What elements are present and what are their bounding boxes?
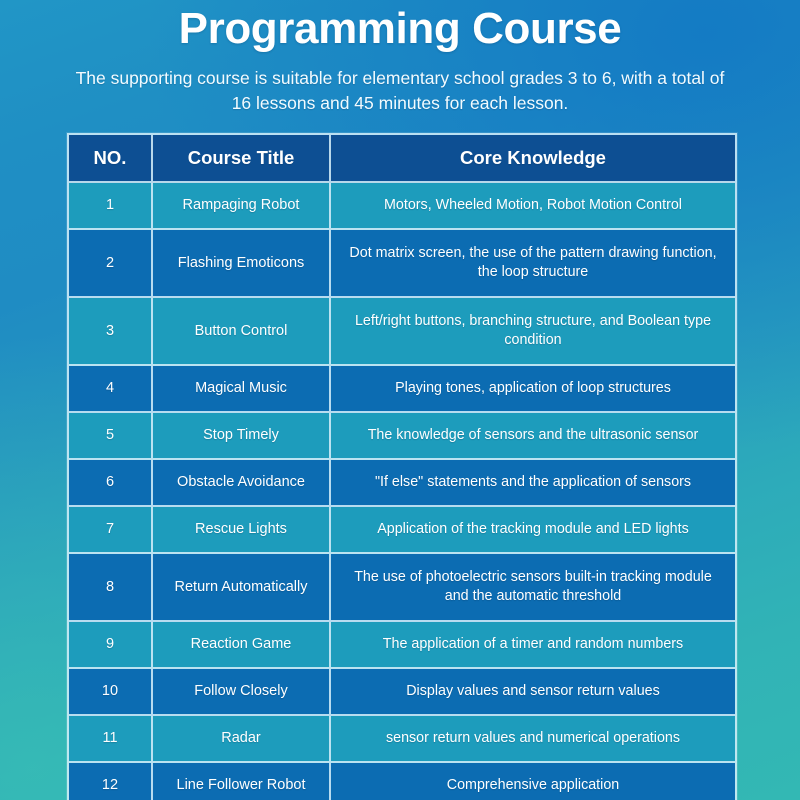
- cell-course-title: Return Automatically: [153, 554, 331, 622]
- cell-course-title: Rescue Lights: [153, 507, 331, 554]
- cell-lesson-number: 2: [69, 230, 153, 298]
- table-row: 10Follow CloselyDisplay values and senso…: [69, 669, 735, 716]
- cell-core-knowledge: "If else" statements and the application…: [331, 460, 735, 507]
- cell-lesson-number: 9: [69, 622, 153, 669]
- page-subtitle: The supporting course is suitable for el…: [70, 66, 730, 116]
- poster-header: Programming Course The supporting course…: [0, 0, 800, 116]
- course-table: NO. Course Title Core Knowledge 1Rampagi…: [67, 133, 737, 800]
- course-table-body: 1Rampaging RobotMotors, Wheeled Motion, …: [69, 183, 735, 800]
- cell-lesson-number: 10: [69, 669, 153, 716]
- cell-core-knowledge: The application of a timer and random nu…: [331, 622, 735, 669]
- table-row: 6Obstacle Avoidance"If else" statements …: [69, 460, 735, 507]
- page-title: Programming Course: [0, 4, 800, 54]
- cell-core-knowledge: Left/right buttons, branching structure,…: [331, 298, 735, 366]
- cell-lesson-number: 1: [69, 183, 153, 230]
- table-row: 9Reaction GameThe application of a timer…: [69, 622, 735, 669]
- cell-course-title: Obstacle Avoidance: [153, 460, 331, 507]
- cell-core-knowledge: The use of photoelectric sensors built-i…: [331, 554, 735, 622]
- table-row: 11Radarsensor return values and numerica…: [69, 716, 735, 763]
- cell-core-knowledge: Dot matrix screen, the use of the patter…: [331, 230, 735, 298]
- cell-core-knowledge: Application of the tracking module and L…: [331, 507, 735, 554]
- cell-core-knowledge: The knowledge of sensors and the ultraso…: [331, 413, 735, 460]
- column-header-course-title: Course Title: [153, 135, 331, 183]
- cell-core-knowledge: Comprehensive application: [331, 763, 735, 800]
- table-row: 3Button ControlLeft/right buttons, branc…: [69, 298, 735, 366]
- cell-course-title: Magical Music: [153, 366, 331, 413]
- table-row: 12Line Follower RobotComprehensive appli…: [69, 763, 735, 800]
- cell-course-title: Radar: [153, 716, 331, 763]
- table-row: 1Rampaging RobotMotors, Wheeled Motion, …: [69, 183, 735, 230]
- cell-course-title: Line Follower Robot: [153, 763, 331, 800]
- table-row: 8Return AutomaticallyThe use of photoele…: [69, 554, 735, 622]
- course-table-header: NO. Course Title Core Knowledge: [69, 135, 735, 183]
- cell-lesson-number: 4: [69, 366, 153, 413]
- cell-core-knowledge: Display values and sensor return values: [331, 669, 735, 716]
- course-poster: Programming Course The supporting course…: [0, 0, 800, 800]
- cell-course-title: Stop Timely: [153, 413, 331, 460]
- cell-lesson-number: 11: [69, 716, 153, 763]
- table-row: 5Stop TimelyThe knowledge of sensors and…: [69, 413, 735, 460]
- cell-course-title: Flashing Emoticons: [153, 230, 331, 298]
- cell-lesson-number: 7: [69, 507, 153, 554]
- table-row: 4Magical MusicPlaying tones, application…: [69, 366, 735, 413]
- cell-course-title: Rampaging Robot: [153, 183, 331, 230]
- table-header-row: NO. Course Title Core Knowledge: [69, 135, 735, 183]
- cell-lesson-number: 6: [69, 460, 153, 507]
- cell-lesson-number: 3: [69, 298, 153, 366]
- table-row: 7Rescue LightsApplication of the trackin…: [69, 507, 735, 554]
- cell-lesson-number: 5: [69, 413, 153, 460]
- course-table-container: NO. Course Title Core Knowledge 1Rampagi…: [67, 133, 733, 800]
- cell-lesson-number: 12: [69, 763, 153, 800]
- cell-course-title: Reaction Game: [153, 622, 331, 669]
- cell-lesson-number: 8: [69, 554, 153, 622]
- cell-core-knowledge: sensor return values and numerical opera…: [331, 716, 735, 763]
- cell-core-knowledge: Playing tones, application of loop struc…: [331, 366, 735, 413]
- cell-core-knowledge: Motors, Wheeled Motion, Robot Motion Con…: [331, 183, 735, 230]
- column-header-no: NO.: [69, 135, 153, 183]
- cell-course-title: Button Control: [153, 298, 331, 366]
- table-row: 2Flashing EmoticonsDot matrix screen, th…: [69, 230, 735, 298]
- column-header-core-knowledge: Core Knowledge: [331, 135, 735, 183]
- cell-course-title: Follow Closely: [153, 669, 331, 716]
